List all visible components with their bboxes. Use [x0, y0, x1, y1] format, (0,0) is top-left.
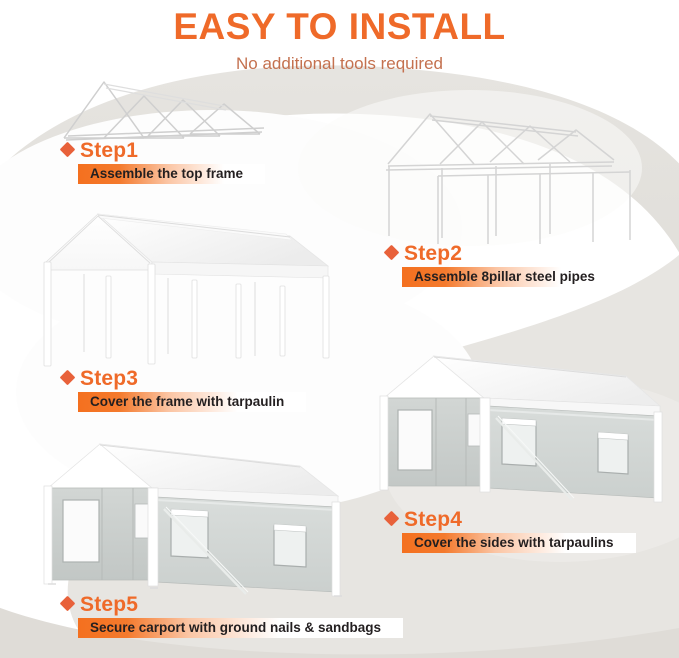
step-title-2: Step2	[404, 243, 462, 264]
step-title-1: Step1	[80, 140, 138, 161]
step-header-3: Step3	[62, 368, 306, 389]
diamond-bullet-icon	[384, 511, 400, 527]
step-block-2: Step2 Assemble 8pillar steel pipes	[386, 243, 617, 287]
illustration-step3-roof-tarp	[40, 206, 340, 368]
infographic-canvas: EASY TO INSTALL No additional tools requ…	[0, 0, 679, 658]
diamond-bullet-icon	[60, 370, 76, 386]
step-header-4: Step4	[386, 509, 636, 530]
step-title-5: Step5	[80, 594, 138, 615]
step-block-1: Step1 Assemble the top frame	[62, 140, 265, 184]
step-title-4: Step4	[404, 509, 462, 530]
step-bar-4: Cover the sides with tarpaulins	[402, 533, 636, 553]
diamond-bullet-icon	[384, 245, 400, 261]
step-description-3: Cover the frame with tarpaulin	[90, 395, 284, 409]
illustration-step4-side-walls	[376, 352, 672, 510]
illustration-step1-top-frame	[56, 74, 296, 146]
step-description-2: Assemble 8pillar steel pipes	[414, 270, 595, 284]
illustration-step2-frame-pillars	[378, 104, 668, 244]
step-title-3: Step3	[80, 368, 138, 389]
diamond-bullet-icon	[60, 142, 76, 158]
step-bar-1: Assemble the top frame	[78, 164, 265, 184]
diamond-bullet-icon	[60, 596, 76, 612]
page-title: EASY TO INSTALL	[0, 8, 679, 45]
illustration-step5-complete-carport	[38, 440, 358, 600]
step-block-4: Step4 Cover the sides with tarpaulins	[386, 509, 636, 553]
step-block-3: Step3 Cover the frame with tarpaulin	[62, 368, 306, 412]
step-bar-3: Cover the frame with tarpaulin	[78, 392, 306, 412]
step-block-5: Step5 Secure carport with ground nails &…	[62, 594, 403, 638]
step-description-5: Secure carport with ground nails & sandb…	[90, 621, 381, 635]
step-description-1: Assemble the top frame	[90, 167, 243, 181]
step-header-2: Step2	[386, 243, 617, 264]
page-subtitle: No additional tools required	[0, 55, 679, 72]
step-header-1: Step1	[62, 140, 265, 161]
step-bar-5: Secure carport with ground nails & sandb…	[78, 618, 403, 638]
step-description-4: Cover the sides with tarpaulins	[414, 536, 614, 550]
header: EASY TO INSTALL No additional tools requ…	[0, 0, 679, 72]
step-header-5: Step5	[62, 594, 403, 615]
step-bar-2: Assemble 8pillar steel pipes	[402, 267, 617, 287]
